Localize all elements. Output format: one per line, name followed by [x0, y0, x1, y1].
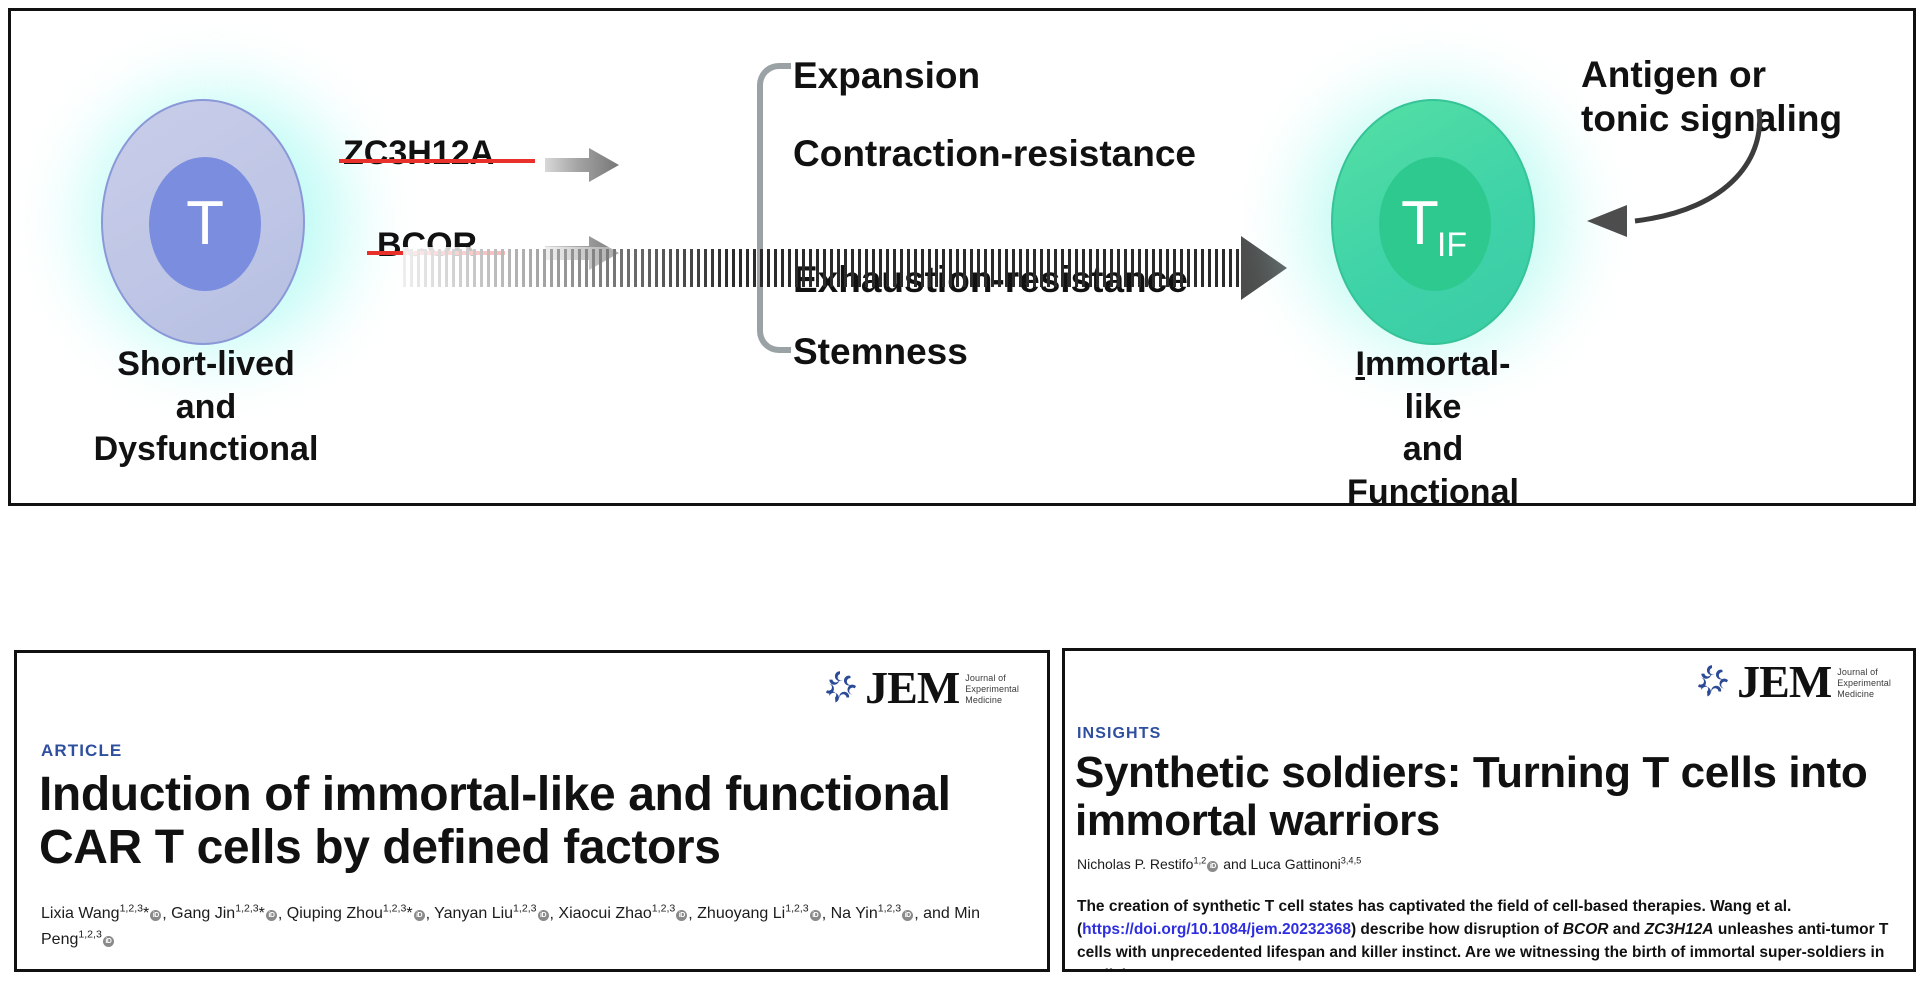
stimulus-label-line1: Antigen or	[1581, 53, 1842, 97]
left-cell-caption: Short-lived and Dysfunctional	[56, 343, 356, 471]
stimulus-curved-arrow	[1527, 103, 1787, 253]
article-kicker: ARTICLE	[41, 741, 122, 761]
orcid-icon[interactable]: iD	[810, 910, 821, 921]
gene-label-zc3h12a: ZC3H12A	[343, 134, 494, 173]
author-item[interactable]: and Luca Gattinoni3,4,5	[1223, 856, 1361, 872]
right-cell-caption: Immortal- like and Functional	[1293, 343, 1573, 506]
outcome-stemness: Stemness	[793, 331, 968, 373]
right-cell-letter-subscript: IF	[1437, 226, 1467, 264]
jem-subtitle-line2: Experimental	[1837, 678, 1891, 689]
left-cell-caption-line2: and	[56, 386, 356, 429]
orcid-icon[interactable]: iD	[266, 910, 277, 921]
insights-card: JEM Journal of Experimental Medicine INS…	[1062, 648, 1916, 972]
right-cell-caption-line1: Immortal-	[1293, 343, 1573, 386]
author-item[interactable]: Na Yin1,2,3iD	[831, 905, 915, 922]
jem-emblem-icon	[821, 669, 859, 707]
left-cell-membrane: T	[101, 99, 305, 345]
orcid-icon[interactable]: iD	[414, 910, 425, 921]
jem-subtitle: Journal of Experimental Medicine	[1837, 664, 1891, 700]
right-cell-caption-line3: and	[1293, 428, 1573, 471]
abstract-gene-bcor: BCOR	[1563, 921, 1609, 938]
insights-abstract: The creation of synthetic T cell states …	[1077, 896, 1903, 972]
orcid-icon[interactable]: iD	[538, 910, 549, 921]
orcid-icon[interactable]: iD	[103, 936, 114, 947]
outcome-expansion: Expansion	[793, 55, 980, 97]
abstract-part3: and	[1608, 921, 1644, 938]
author-item[interactable]: Qiuping Zhou1,2,3*iD	[287, 905, 426, 922]
right-cell-membrane: TIF	[1331, 99, 1535, 345]
article-title[interactable]: Induction of immortal-like and functiona…	[39, 769, 1039, 875]
jem-subtitle-line1: Journal of	[965, 673, 1019, 684]
insights-kicker: INSIGHTS	[1077, 725, 1161, 743]
right-cell-letter: TIF	[1401, 193, 1469, 255]
author-item[interactable]: Zhuoyang Li1,2,3iD	[697, 905, 822, 922]
jem-subtitle-line1: Journal of	[1837, 667, 1891, 678]
article-card: JEM Journal of Experimental Medicine ART…	[14, 650, 1050, 972]
left-cell-nucleus: T	[149, 157, 261, 291]
orcid-icon[interactable]: iD	[150, 910, 161, 921]
gene-strikethrough-zc3h12a	[339, 159, 535, 163]
jem-subtitle-line2: Experimental	[965, 684, 1019, 695]
abstract-doi-link[interactable]: https://doi.org/10.1084/jem.20232368	[1082, 921, 1351, 938]
right-cell-nucleus: TIF	[1379, 157, 1491, 291]
right-cell-caption-line4-initial: F	[1347, 473, 1368, 507]
left-cell-caption-line1: Short-lived	[56, 343, 356, 386]
jem-emblem-icon	[1693, 663, 1731, 701]
diagram-panel: T Short-lived and Dysfunctional ZC3H12A …	[8, 8, 1916, 506]
jem-subtitle-line3: Medicine	[1837, 689, 1891, 700]
jem-logo-insights: JEM Journal of Experimental Medicine	[1693, 661, 1891, 702]
left-cell-caption-line3: Dysfunctional	[56, 428, 356, 471]
right-cell-caption-line4-rest: unctional	[1368, 473, 1519, 507]
author-item[interactable]: Lixia Wang1,2,3*iD	[41, 905, 162, 922]
right-cell-caption-line4: Functional	[1293, 471, 1573, 507]
right-cell-caption-line1-rest: mmortal-	[1365, 345, 1510, 383]
abstract-gene-zc3h12a: ZC3H12A	[1645, 921, 1714, 938]
right-cell-letter-base: T	[1401, 189, 1439, 258]
arrow-zc3h12a	[543, 145, 621, 185]
outcome-contraction-resistance: Contraction-resistance	[793, 133, 1196, 175]
author-item[interactable]: Xiaocui Zhao1,2,3iD	[558, 905, 688, 922]
left-cell-letter: T	[186, 193, 224, 255]
jem-subtitle-line3: Medicine	[965, 695, 1019, 706]
insights-title[interactable]: Synthetic soldiers: Turning T cells into…	[1075, 749, 1895, 846]
orcid-icon[interactable]: iD	[1207, 861, 1218, 872]
transition-arrow-fade	[403, 247, 733, 289]
author-item[interactable]: Gang Jin1,2,3*iD	[171, 905, 278, 922]
jem-subtitle: Journal of Experimental Medicine	[965, 670, 1019, 706]
insights-authors: Nicholas P. Restifo1,2iD and Luca Gattin…	[1077, 853, 1897, 875]
right-cell-caption-line1-initial: I	[1356, 345, 1365, 383]
orcid-icon[interactable]: iD	[676, 910, 687, 921]
abstract-part2: ) describe how disruption of	[1351, 921, 1563, 938]
jem-wordmark: JEM	[1737, 661, 1831, 702]
jem-logo-article: JEM Journal of Experimental Medicine	[821, 667, 1019, 708]
orcid-icon[interactable]: iD	[902, 910, 913, 921]
author-item[interactable]: Nicholas P. Restifo1,2iD	[1077, 856, 1219, 872]
author-item[interactable]: Yanyan Liu1,2,3iD	[434, 905, 549, 922]
article-authors: Lixia Wang1,2,3*iD, Gang Jin1,2,3*iD, Qi…	[41, 901, 1031, 953]
jem-wordmark: JEM	[865, 667, 959, 708]
right-cell-caption-line2: like	[1293, 386, 1573, 429]
outcome-bracket	[757, 63, 791, 353]
